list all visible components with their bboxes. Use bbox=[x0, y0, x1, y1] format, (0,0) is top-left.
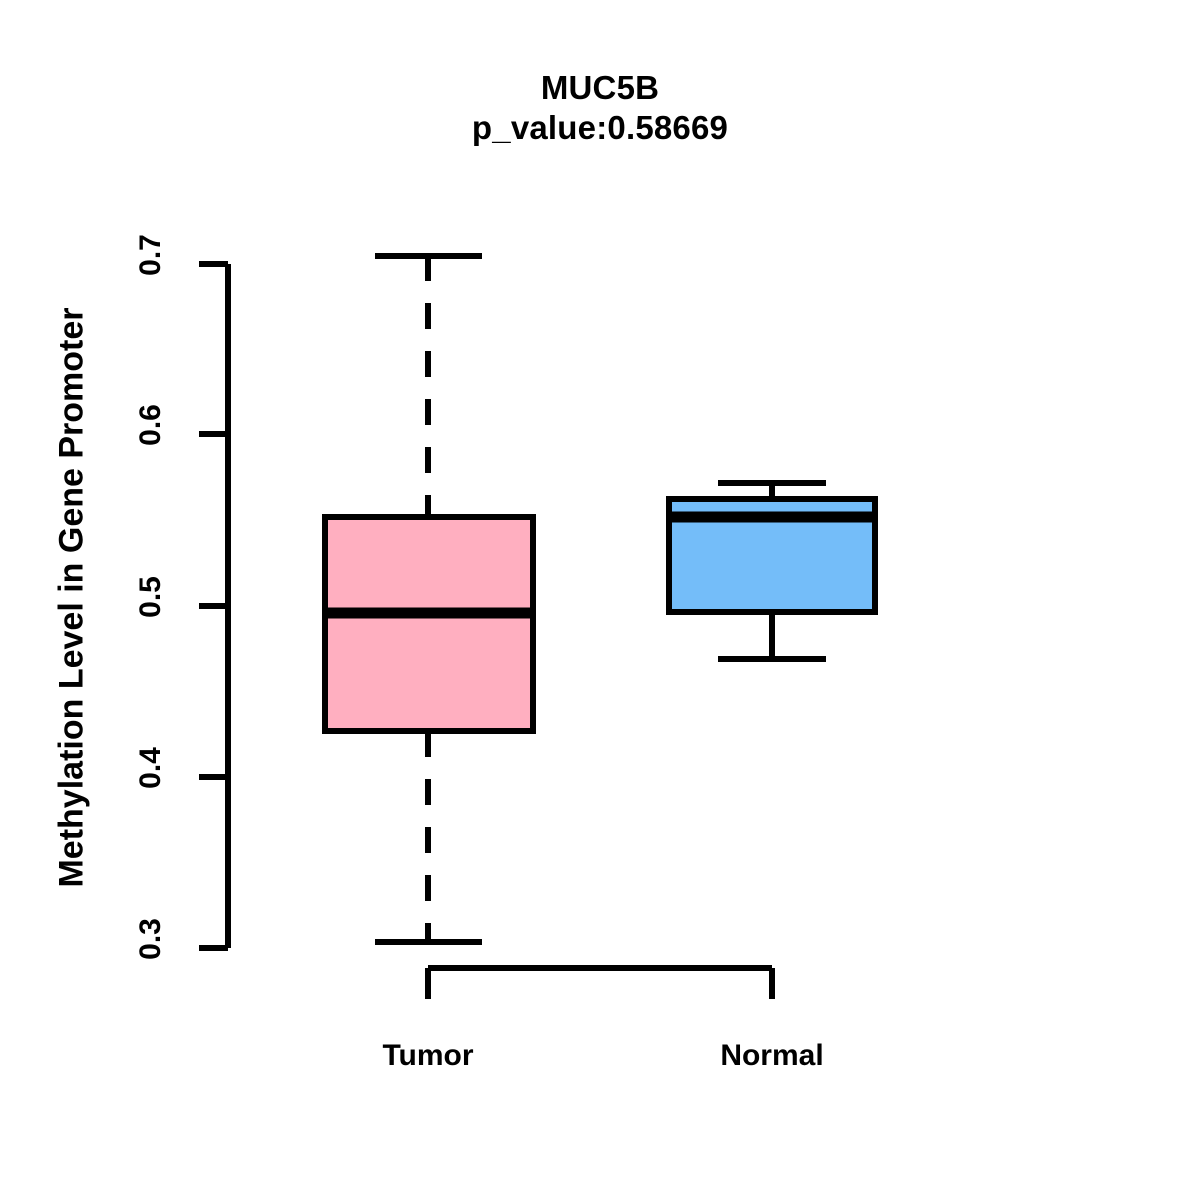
box-normal[interactable] bbox=[666, 483, 878, 659]
x-axis bbox=[428, 968, 772, 999]
boxplot-figure: MUC5B p_value:0.58669 Methylation Level … bbox=[0, 0, 1200, 1200]
tumor-iqr-rect[interactable] bbox=[325, 517, 533, 731]
box-tumor[interactable] bbox=[322, 255, 536, 942]
y-axis bbox=[199, 264, 228, 948]
plot-canvas bbox=[0, 0, 1200, 1200]
